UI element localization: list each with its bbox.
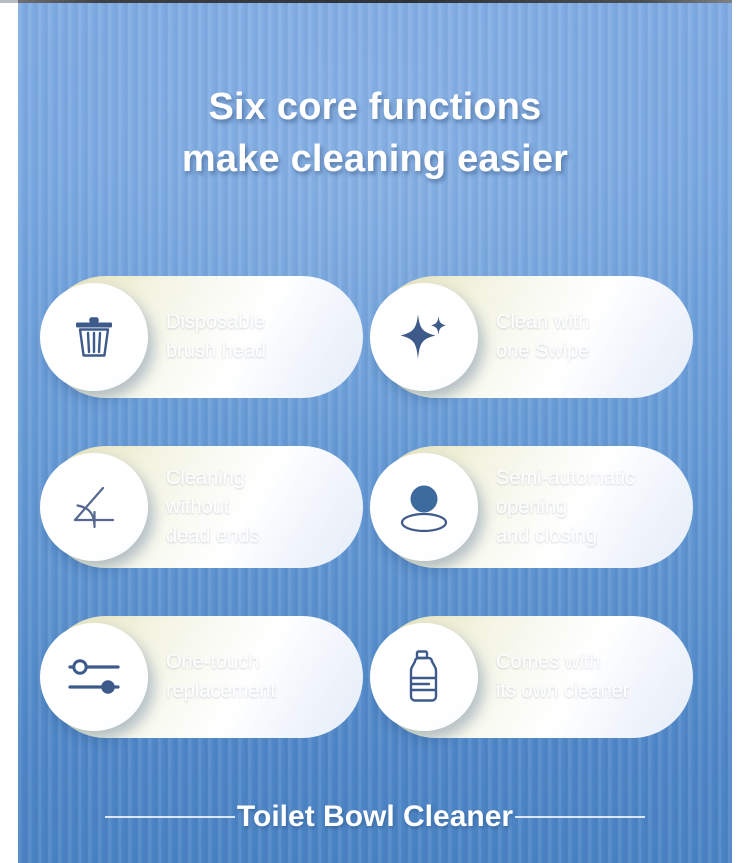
feature-card-comes-with-its-own-cleaner[interactable]: Comes with its own cleaner <box>375 616 693 738</box>
angle-icon <box>66 479 122 535</box>
headline-line-1: Six core functions <box>208 86 541 128</box>
footer: Toilet Bowl Cleaner <box>18 798 732 836</box>
icon-badge <box>40 283 148 391</box>
icon-badge <box>370 453 478 561</box>
footer-rule-left <box>105 816 235 818</box>
feature-card-label: Clean with one Swipe <box>496 308 589 366</box>
feature-card-one-touch-replacement[interactable]: One-touch replacement <box>45 616 363 738</box>
top-edge-rule-left <box>0 0 18 3</box>
feature-card-cleaning-without-dead-ends[interactable]: Cleaning without dead ends <box>45 446 363 568</box>
feature-card-disposable-brush-head[interactable]: Disposable brush head <box>45 276 363 398</box>
page-title: Six core functions make cleaning easier <box>18 81 732 185</box>
icon-badge <box>370 623 478 731</box>
top-edge-rule <box>18 0 732 3</box>
feature-card-grid: Disposable brush head Clean with one Swi… <box>45 268 705 778</box>
feature-card-label: One-touch replacement <box>166 648 276 706</box>
feature-card-label: Semi-automatic opening and closing <box>496 464 635 551</box>
poster-content: Six core functions make cleaning easier <box>18 3 732 863</box>
headline-line-2: make cleaning easier <box>18 133 732 185</box>
trash-can-icon <box>67 310 121 364</box>
feature-card-semi-automatic-opening-and-closing[interactable]: Semi-automatic opening and closing <box>375 446 693 568</box>
feature-card-clean-with-one-swipe[interactable]: Clean with one Swipe <box>375 276 693 398</box>
cleaner-bottle-icon <box>401 648 447 706</box>
poster: Six core functions make cleaning easier <box>0 0 750 863</box>
sparkle-icon <box>395 308 453 366</box>
sliders-icon <box>65 653 123 701</box>
feature-card-label: Cleaning without dead ends <box>166 464 259 551</box>
feature-card-label: Comes with its own cleaner <box>496 648 629 706</box>
footer-rule-right <box>515 816 645 818</box>
icon-badge <box>370 283 478 391</box>
icon-badge <box>40 623 148 731</box>
icon-badge <box>40 453 148 561</box>
toilet-lid-icon <box>393 478 455 536</box>
footer-title: Toilet Bowl Cleaner <box>235 798 515 836</box>
feature-card-label: Disposable brush head <box>166 308 266 366</box>
